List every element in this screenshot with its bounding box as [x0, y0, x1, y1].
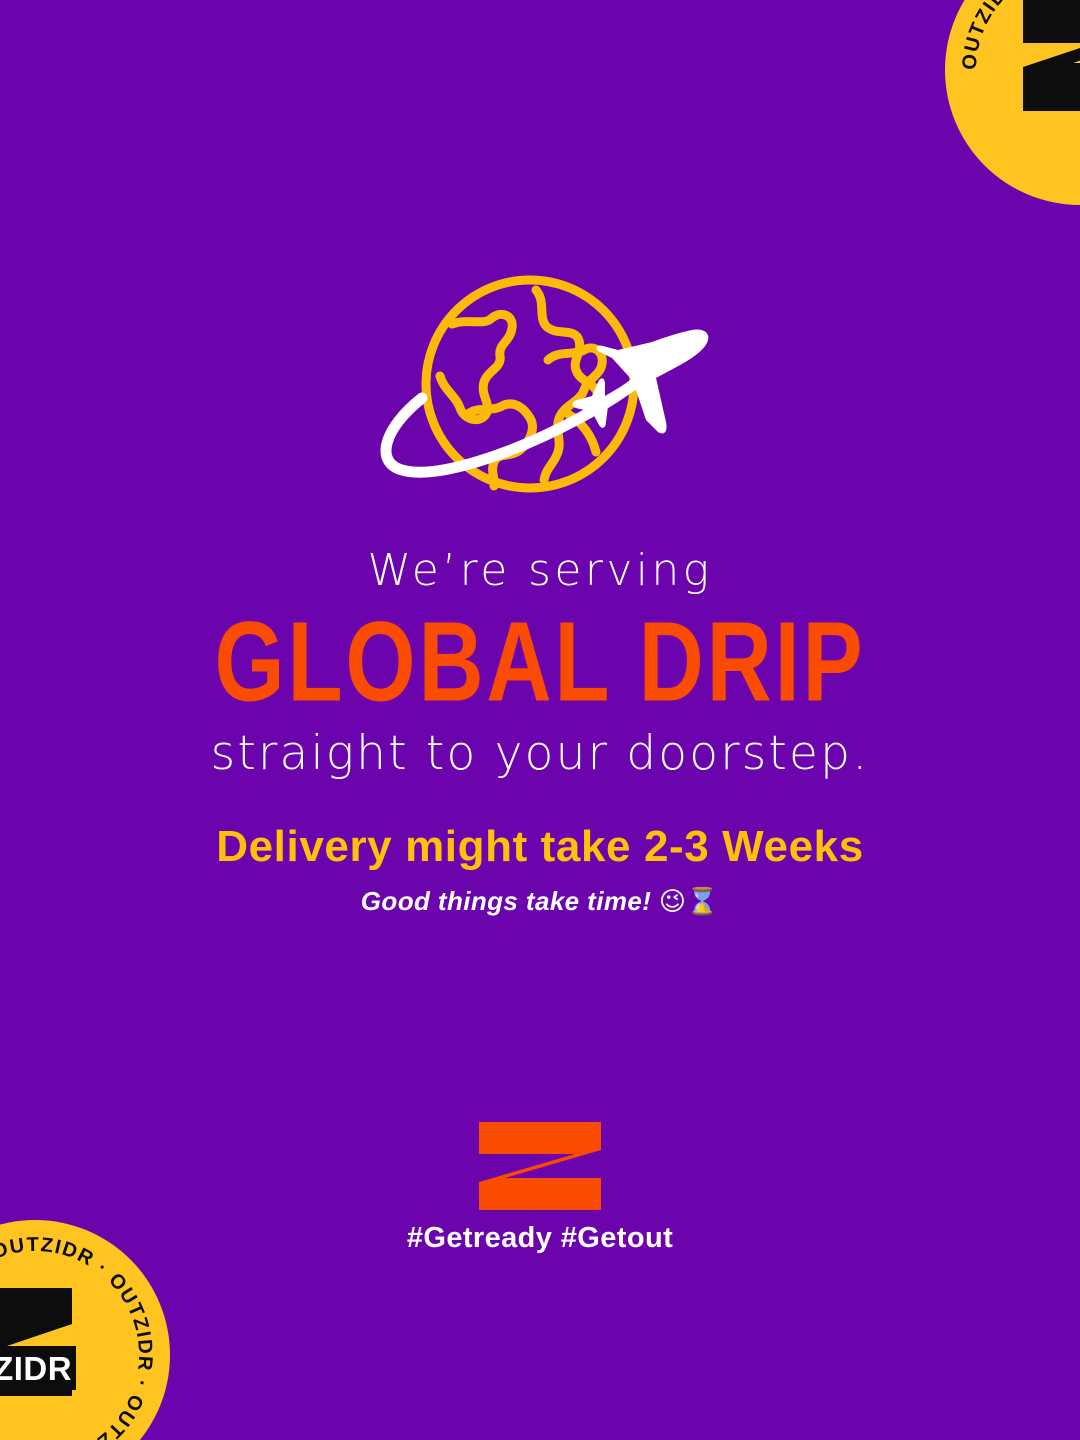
headline-block: We’re serving GLOBAL DRIP straight to yo…	[0, 548, 1080, 781]
hashtags-text: #Getready #Getout	[0, 1222, 1080, 1255]
headline-line-2-global-drip: GLOBAL DRIP	[32, 606, 1047, 719]
globe-plane-illustration	[0, 272, 1080, 512]
headline-line-1: We’re serving	[0, 548, 1080, 594]
badge-wordmark: OUTZIDR	[0, 1350, 72, 1387]
footer-block: #Getready #Getout	[0, 1120, 1080, 1255]
delivery-block: Delivery might take 2-3 Weeks Good thing…	[0, 822, 1080, 917]
headline-line-3: straight to your doorstep.	[0, 726, 1080, 781]
brand-z-logo	[475, 1120, 605, 1212]
poster-canvas: OUTZIDR · OUTZIDR · OUTZIDR · OUTZIDR · …	[0, 0, 1080, 1440]
badge-top-right: OUTZIDR · OUTZIDR · OUTZIDR · OUTZIDR ·	[945, 0, 1080, 205]
delivery-sub-text: Good things take time! 😉⌛	[0, 886, 1080, 917]
wink-hourglass-emoji: 😉⌛	[659, 887, 719, 917]
delivery-main-text: Delivery might take 2-3 Weeks	[0, 822, 1080, 872]
delivery-sub-label: Good things take time!	[361, 886, 651, 916]
